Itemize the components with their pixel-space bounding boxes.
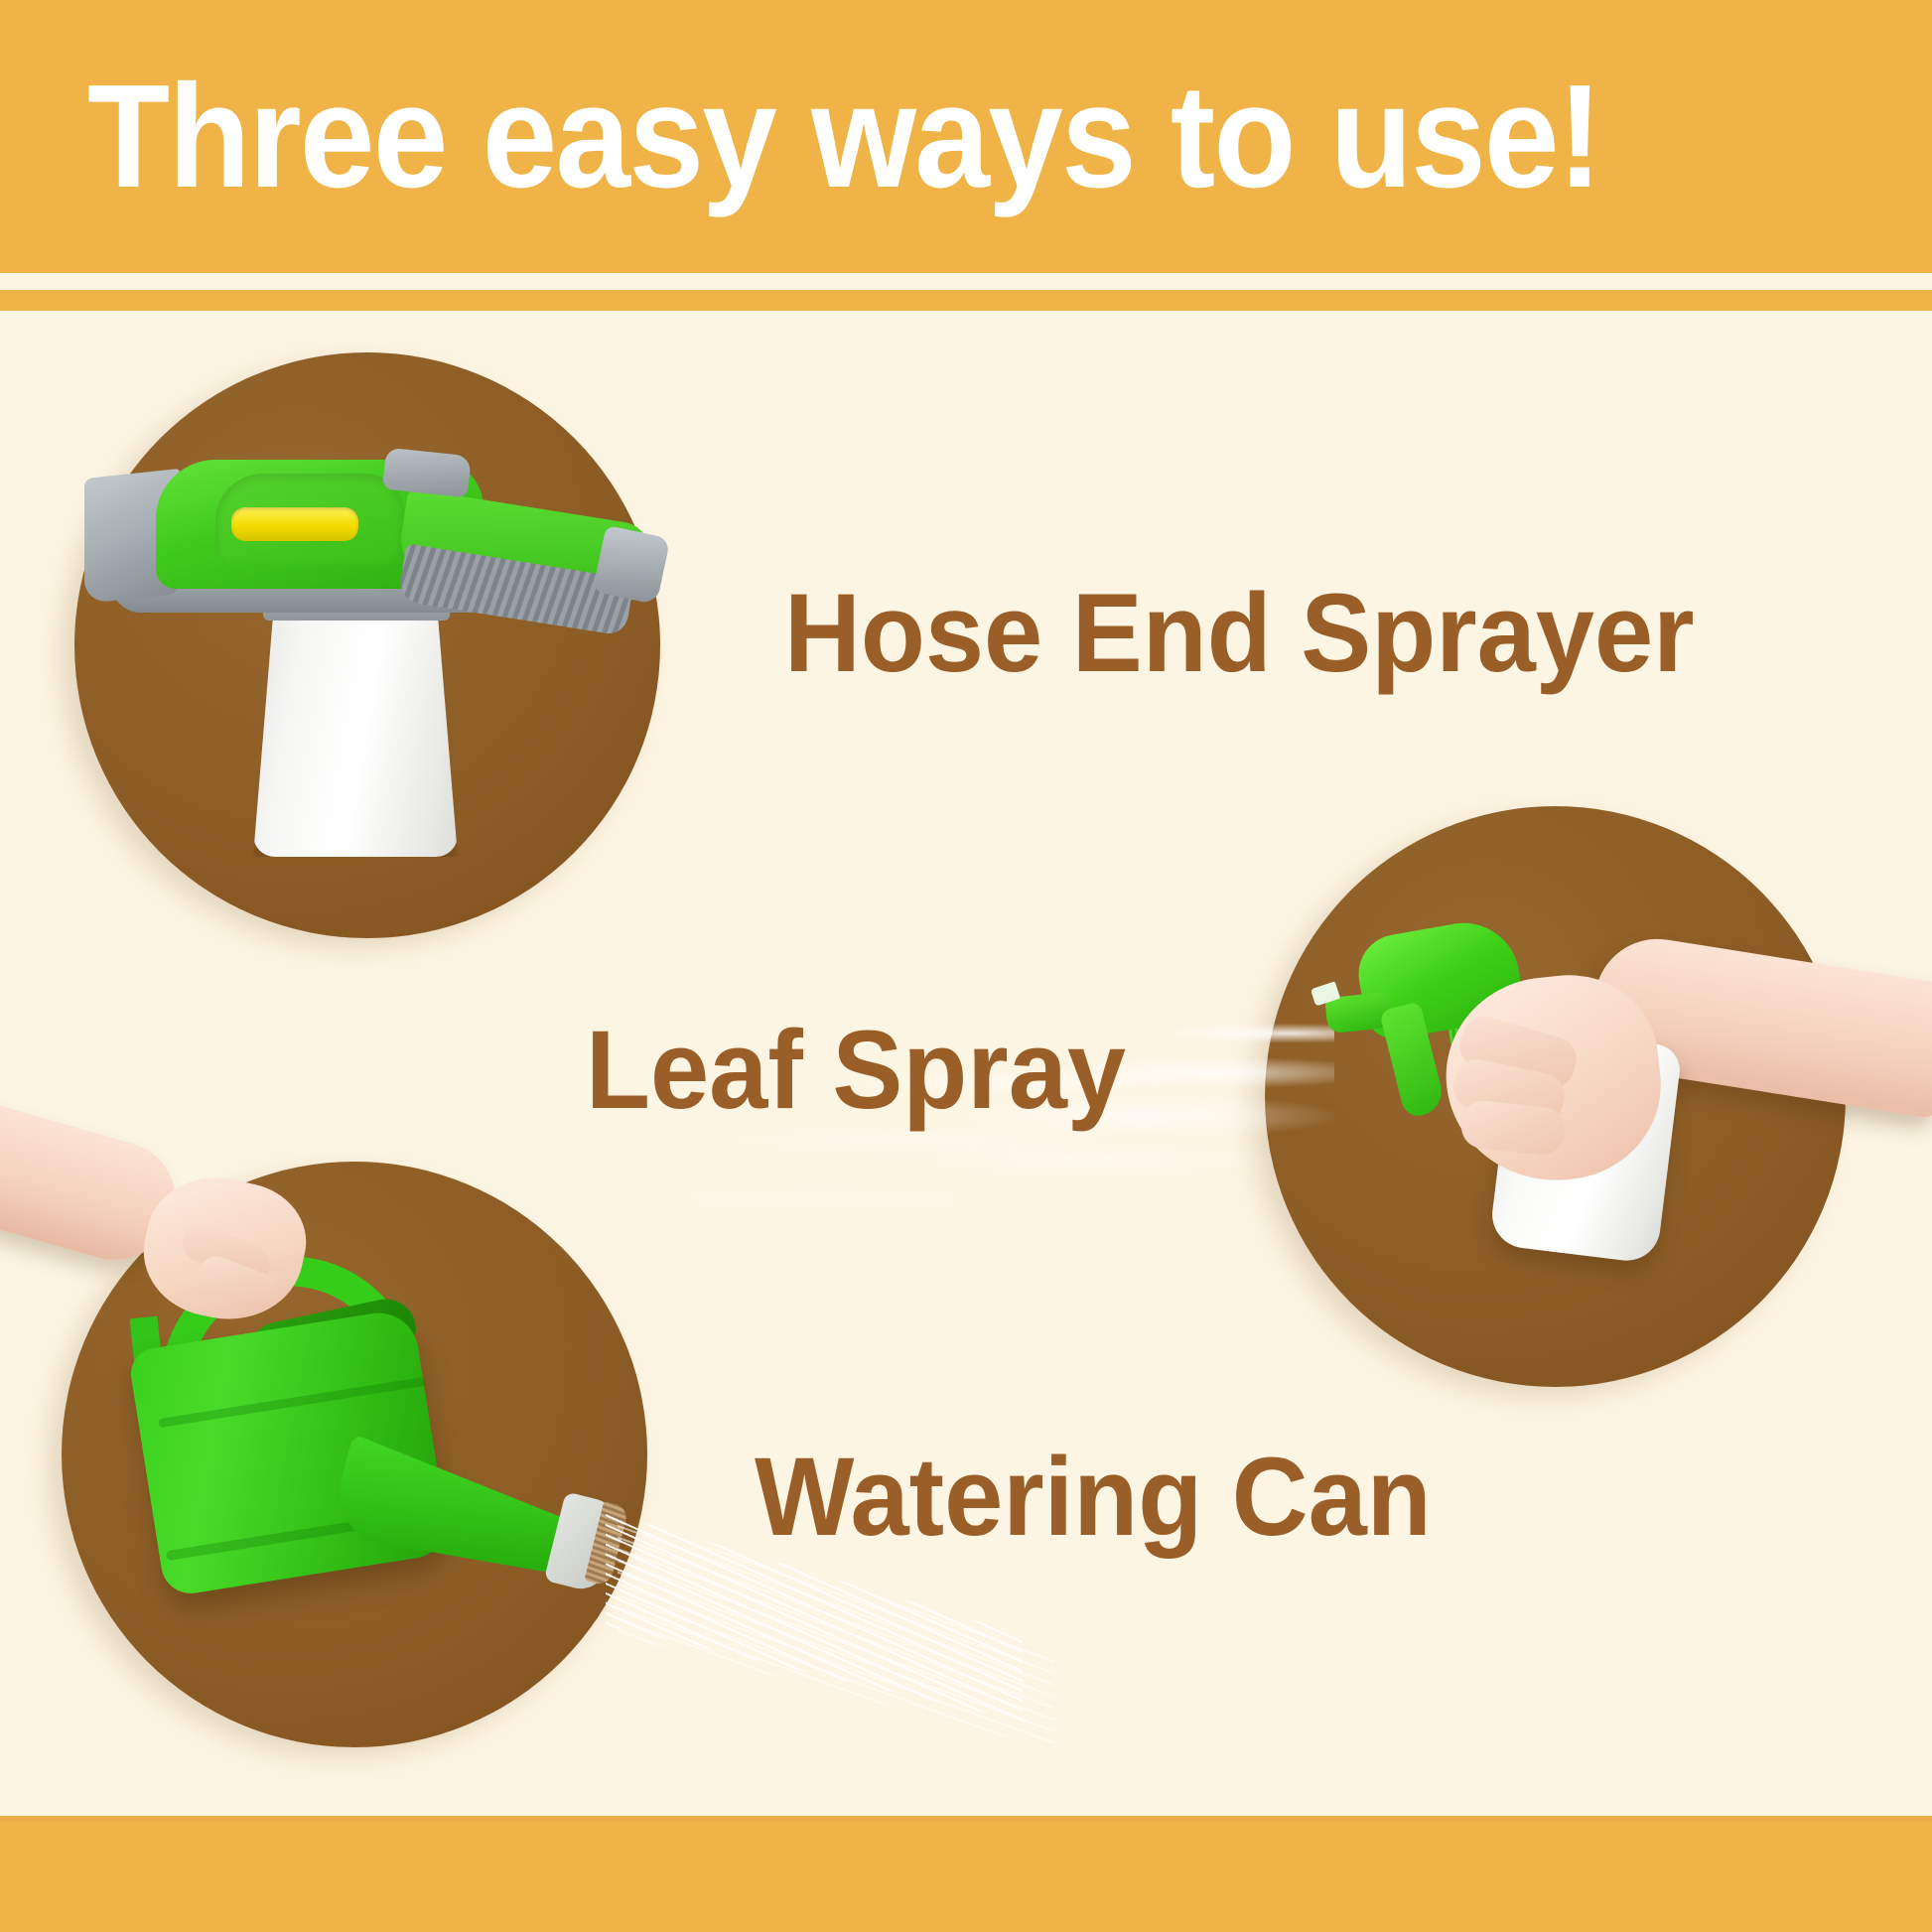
leaf-spray-illustration — [1265, 806, 1846, 1387]
page-title: Three easy ways to use! — [87, 64, 1600, 210]
medallion-leaf-spray — [1265, 806, 1846, 1387]
footer-band — [0, 1822, 1932, 1932]
medallion-watering-can — [62, 1162, 647, 1747]
caption-watering-can: Watering Can — [755, 1442, 1432, 1553]
medallion-hose-end-sprayer — [74, 352, 660, 938]
caption-leaf-spray: Leaf Spray — [586, 1015, 1126, 1126]
sprayer-hose-connector — [593, 525, 671, 605]
sprayer-top-switch — [382, 448, 472, 498]
poster-canvas: Three easy ways to use! Hose End Sprayer — [0, 0, 1932, 1932]
hose-end-sprayer-illustration — [74, 352, 660, 938]
sprayer-reservoir-bottle — [253, 609, 458, 857]
watering-can-illustration — [62, 1162, 647, 1747]
sprayer-yellow-dial-window — [231, 507, 358, 541]
header-divider-stripe — [0, 290, 1932, 311]
header-band: Three easy ways to use! — [0, 0, 1932, 273]
caption-hose-end-sprayer: Hose End Sprayer — [784, 578, 1695, 689]
